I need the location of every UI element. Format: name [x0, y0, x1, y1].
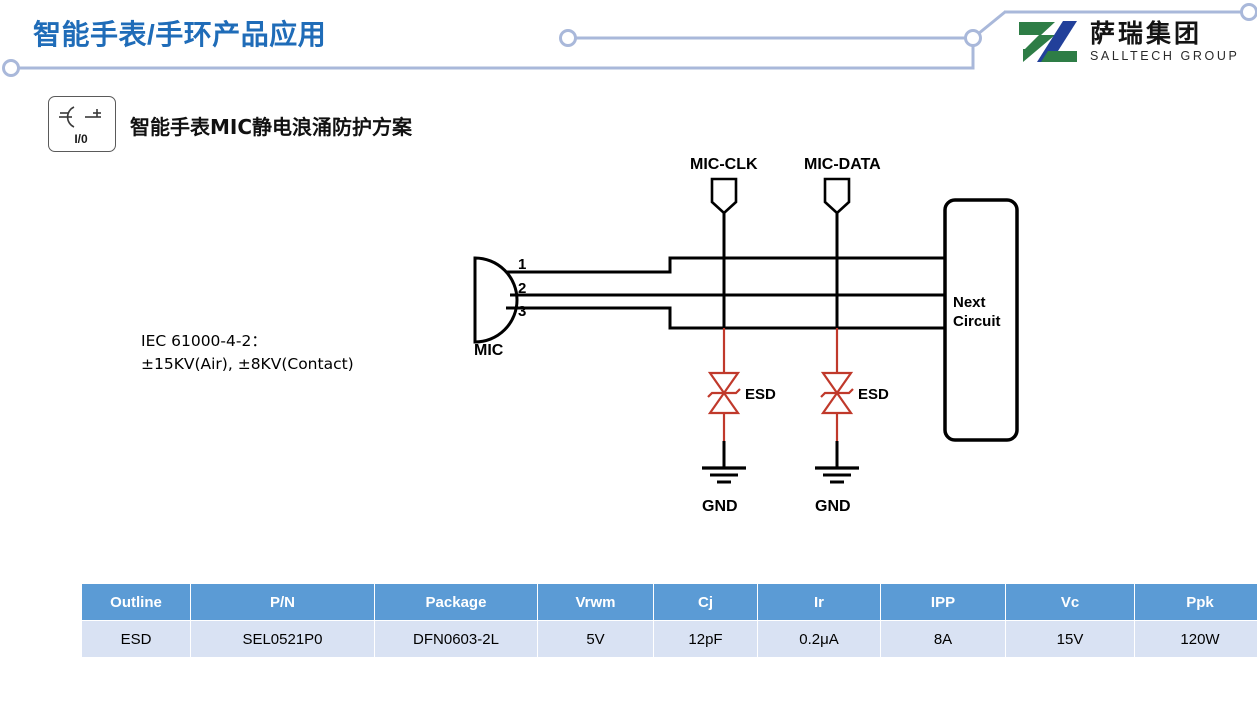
cell-ppk: 120W — [1135, 621, 1257, 658]
gnd-label-2: GND — [815, 498, 851, 515]
salltech-logo-icon — [1015, 18, 1081, 66]
spec-table: Outline P/N Package Vrwm Cj Ir IPP Vc Pp… — [81, 583, 1257, 658]
esd-label-2: ESD — [858, 386, 889, 403]
gnd-label-1: GND — [702, 498, 738, 515]
circle-node-junction — [966, 31, 981, 46]
section-title: 智能手表MIC静电浪涌防护方案 — [130, 111, 412, 140]
header-line-diagonal — [978, 12, 1005, 34]
next-circuit-label-line2: Circuit — [953, 313, 1001, 330]
circle-node-mid — [561, 31, 576, 46]
gnd-symbol-1 — [702, 468, 746, 482]
cell-vc: 15V — [1006, 621, 1135, 658]
esd-diode-2 — [821, 373, 853, 413]
table-header-cj: Cj — [654, 584, 758, 621]
terminal-label-mic-clk: MIC-CLK — [690, 156, 758, 173]
mic-label: MIC — [474, 342, 504, 359]
table-header-ir: Ir — [758, 584, 881, 621]
io-speaker-icon: I/0 — [49, 97, 113, 149]
cell-ir: 0.2μA — [758, 621, 881, 658]
circle-node-right — [1242, 5, 1257, 20]
cell-ipp: 8A — [881, 621, 1006, 658]
iec-note-line1: IEC 61000-4-2： — [141, 330, 354, 353]
brand-logo: 萨瑞集团 SALLTECH GROUP — [1015, 18, 1239, 66]
iec-note-line2: ±15KV(Air), ±8KV(Contact) — [141, 353, 354, 376]
page-title: 智能手表/手环产品应用 — [33, 13, 326, 53]
esd-protection-schematic: 1 2 3 MIC MIC-CLK ESD GND MIC-DATA — [440, 145, 1060, 545]
cell-vrwm: 5V — [538, 621, 654, 658]
iec-note: IEC 61000-4-2： ±15KV(Air), ±8KV(Contact) — [141, 330, 354, 376]
next-circuit-label-line1: Next — [953, 294, 986, 311]
brand-name-cn: 萨瑞集团 — [1090, 21, 1239, 46]
table-header-vrwm: Vrwm — [538, 584, 654, 621]
esd-diode-1 — [708, 373, 740, 413]
table-header-outline: Outline — [82, 584, 191, 621]
table-header-row: Outline P/N Package Vrwm Cj Ir IPP Vc Pp… — [82, 584, 1257, 621]
cell-cj: 12pF — [654, 621, 758, 658]
slide-page: 智能手表/手环产品应用 萨瑞集团 SALLTECH GROUP I/0 智能手表… — [0, 0, 1257, 704]
circle-node-left — [4, 61, 19, 76]
esd-label-1: ESD — [745, 386, 776, 403]
table-header-ppk: Ppk — [1135, 584, 1257, 621]
terminal-flag-mic-data — [825, 179, 849, 213]
table-header-package: Package — [375, 584, 538, 621]
table-header-ipp: IPP — [881, 584, 1006, 621]
terminal-flag-mic-clk — [712, 179, 736, 213]
pin-label-2: 2 — [518, 280, 526, 297]
gnd-symbol-2 — [815, 468, 859, 482]
cell-outline: ESD — [82, 621, 191, 658]
pin-label-1: 1 — [518, 256, 526, 273]
terminal-label-mic-data: MIC-DATA — [804, 156, 881, 173]
brand-name-en: SALLTECH GROUP — [1090, 50, 1239, 63]
cell-package: DFN0603-2L — [375, 621, 538, 658]
cell-pn: SEL0521P0 — [191, 621, 375, 658]
io-badge-label: I/0 — [74, 132, 88, 146]
table-header-pn: P/N — [191, 584, 375, 621]
io-badge: I/0 — [48, 96, 116, 152]
table-row: ESD SEL0521P0 DFN0603-2L 5V 12pF 0.2μA 8… — [82, 621, 1257, 658]
pin-label-3: 3 — [518, 303, 526, 320]
table-header-vc: Vc — [1006, 584, 1135, 621]
